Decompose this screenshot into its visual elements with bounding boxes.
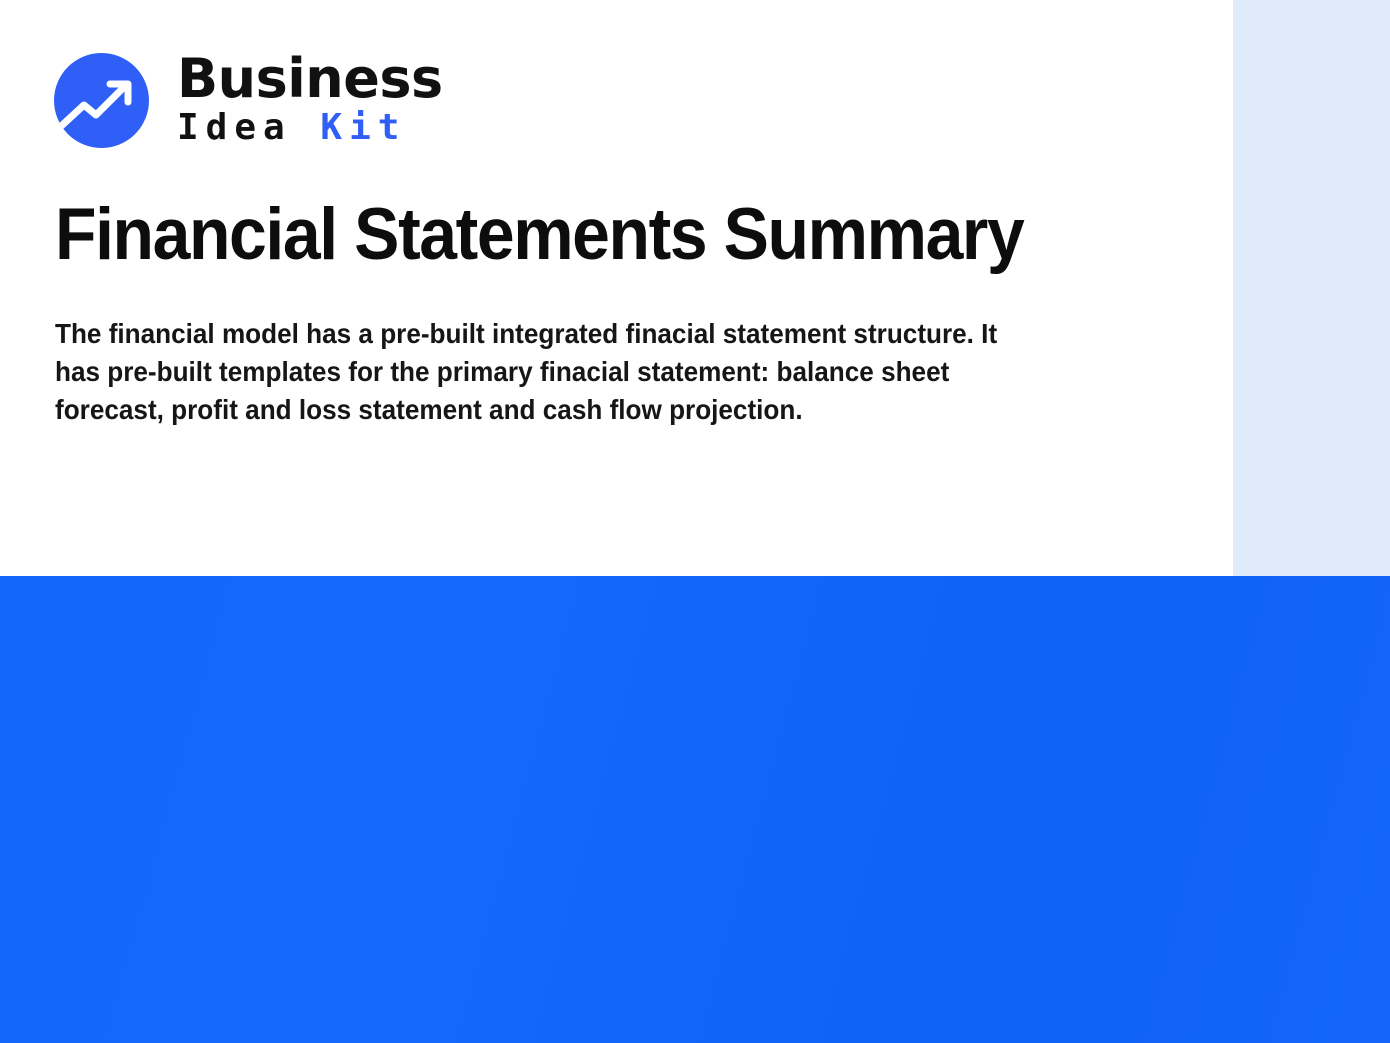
brand-name-business: Business (177, 53, 443, 106)
page-description: The financial model has a pre-built inte… (55, 315, 1043, 430)
hero-section: Business Idea Kit Financial Statements S… (0, 0, 1390, 576)
hero-side-panel (1233, 0, 1390, 576)
brand-wordmark: Business Idea Kit (177, 53, 443, 148)
brand-name-kit: Kit (320, 107, 406, 148)
screenshot-band: Cash Flow Statement ($'000) - 2025MayJun… (0, 576, 1390, 1043)
brand-name-idea: Idea (177, 107, 292, 148)
brand-name-ideakit: Idea Kit (177, 108, 443, 148)
growth-arrow-icon (54, 53, 149, 148)
brand-logo: Business Idea Kit (54, 53, 443, 148)
page-title: Financial Statements Summary (55, 198, 1097, 271)
